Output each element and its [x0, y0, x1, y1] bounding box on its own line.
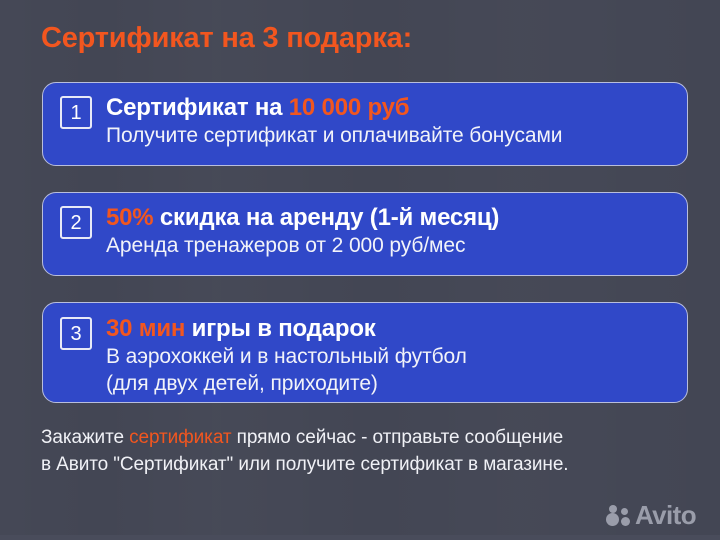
avito-dots-icon	[606, 504, 631, 527]
offer-number-badge-3: 3	[60, 317, 92, 350]
offer-subline-3-0: В аэрохоккей и в настольный футбол	[106, 344, 467, 370]
footer-line-1: Закажите сертификат прямо сейчас - отпра…	[41, 424, 691, 451]
footer-line-1-pre: Закажите	[41, 427, 129, 448]
avito-wordmark: Avito	[635, 502, 696, 528]
offer-headline-1-pre: Сертификат на	[106, 94, 289, 121]
offer-card-2-content: 2 50% скидка на аренду (1-й месяц) Аренд…	[43, 193, 687, 259]
offer-headline-3: 30 мин игры в подарок	[106, 315, 467, 343]
offer-headline-2-post: скидка на аренду (1-й месяц)	[153, 204, 499, 231]
footer-line-2: в Авито "Сертификат" или получите сертиф…	[41, 451, 691, 478]
offer-headline-2: 50% скидка на аренду (1-й месяц)	[106, 204, 499, 232]
footer-line-1-accent: сертификат	[129, 427, 231, 448]
footer-note: Закажите сертификат прямо сейчас - отпра…	[41, 424, 691, 478]
offer-number-badge-1: 1	[60, 96, 92, 129]
offer-subline-1-0: Получите сертификат и оплачивайте бонуса…	[106, 123, 562, 149]
offer-headline-1-accent: 10 000 руб	[289, 94, 410, 121]
avito-dot-small-right	[621, 508, 628, 515]
promo-poster: Сертификат на 3 подарка: 1 Сертификат на…	[0, 0, 720, 540]
avito-dot-small-top	[609, 505, 617, 513]
bottom-band	[0, 535, 720, 540]
avito-logo: Avito	[606, 502, 696, 528]
offer-headline-1: Сертификат на 10 000 руб	[106, 94, 562, 122]
offer-headline-3-accent: 30 мин	[106, 315, 185, 342]
offer-headline-3-post: игры в подарок	[185, 315, 375, 342]
offer-card-1-text: Сертификат на 10 000 руб Получите сертиф…	[92, 94, 562, 149]
footer-line-1-post: прямо сейчас - отправьте сообщение	[231, 427, 563, 448]
avito-dot-mid-bottom	[621, 517, 630, 526]
offer-card-3[interactable]: 3 30 мин игры в подарок В аэрохоккей и в…	[42, 302, 688, 403]
offer-card-3-content: 3 30 мин игры в подарок В аэрохоккей и в…	[43, 303, 687, 397]
offer-subline-3-1: (для двух детей, приходите)	[106, 371, 467, 397]
offer-number-badge-2: 2	[60, 206, 92, 239]
avito-dot-large	[606, 513, 619, 526]
offer-card-1[interactable]: 1 Сертификат на 10 000 руб Получите серт…	[42, 82, 688, 166]
offer-card-3-text: 30 мин игры в подарок В аэрохоккей и в н…	[92, 315, 467, 397]
offer-headline-2-accent: 50%	[106, 204, 153, 231]
page-title: Сертификат на 3 подарка:	[41, 22, 412, 55]
offer-card-2[interactable]: 2 50% скидка на аренду (1-й месяц) Аренд…	[42, 192, 688, 276]
offer-card-1-content: 1 Сертификат на 10 000 руб Получите серт…	[43, 83, 687, 149]
offer-subline-2-0: Аренда тренажеров от 2 000 руб/мес	[106, 233, 499, 259]
offer-card-2-text: 50% скидка на аренду (1-й месяц) Аренда …	[92, 204, 499, 259]
